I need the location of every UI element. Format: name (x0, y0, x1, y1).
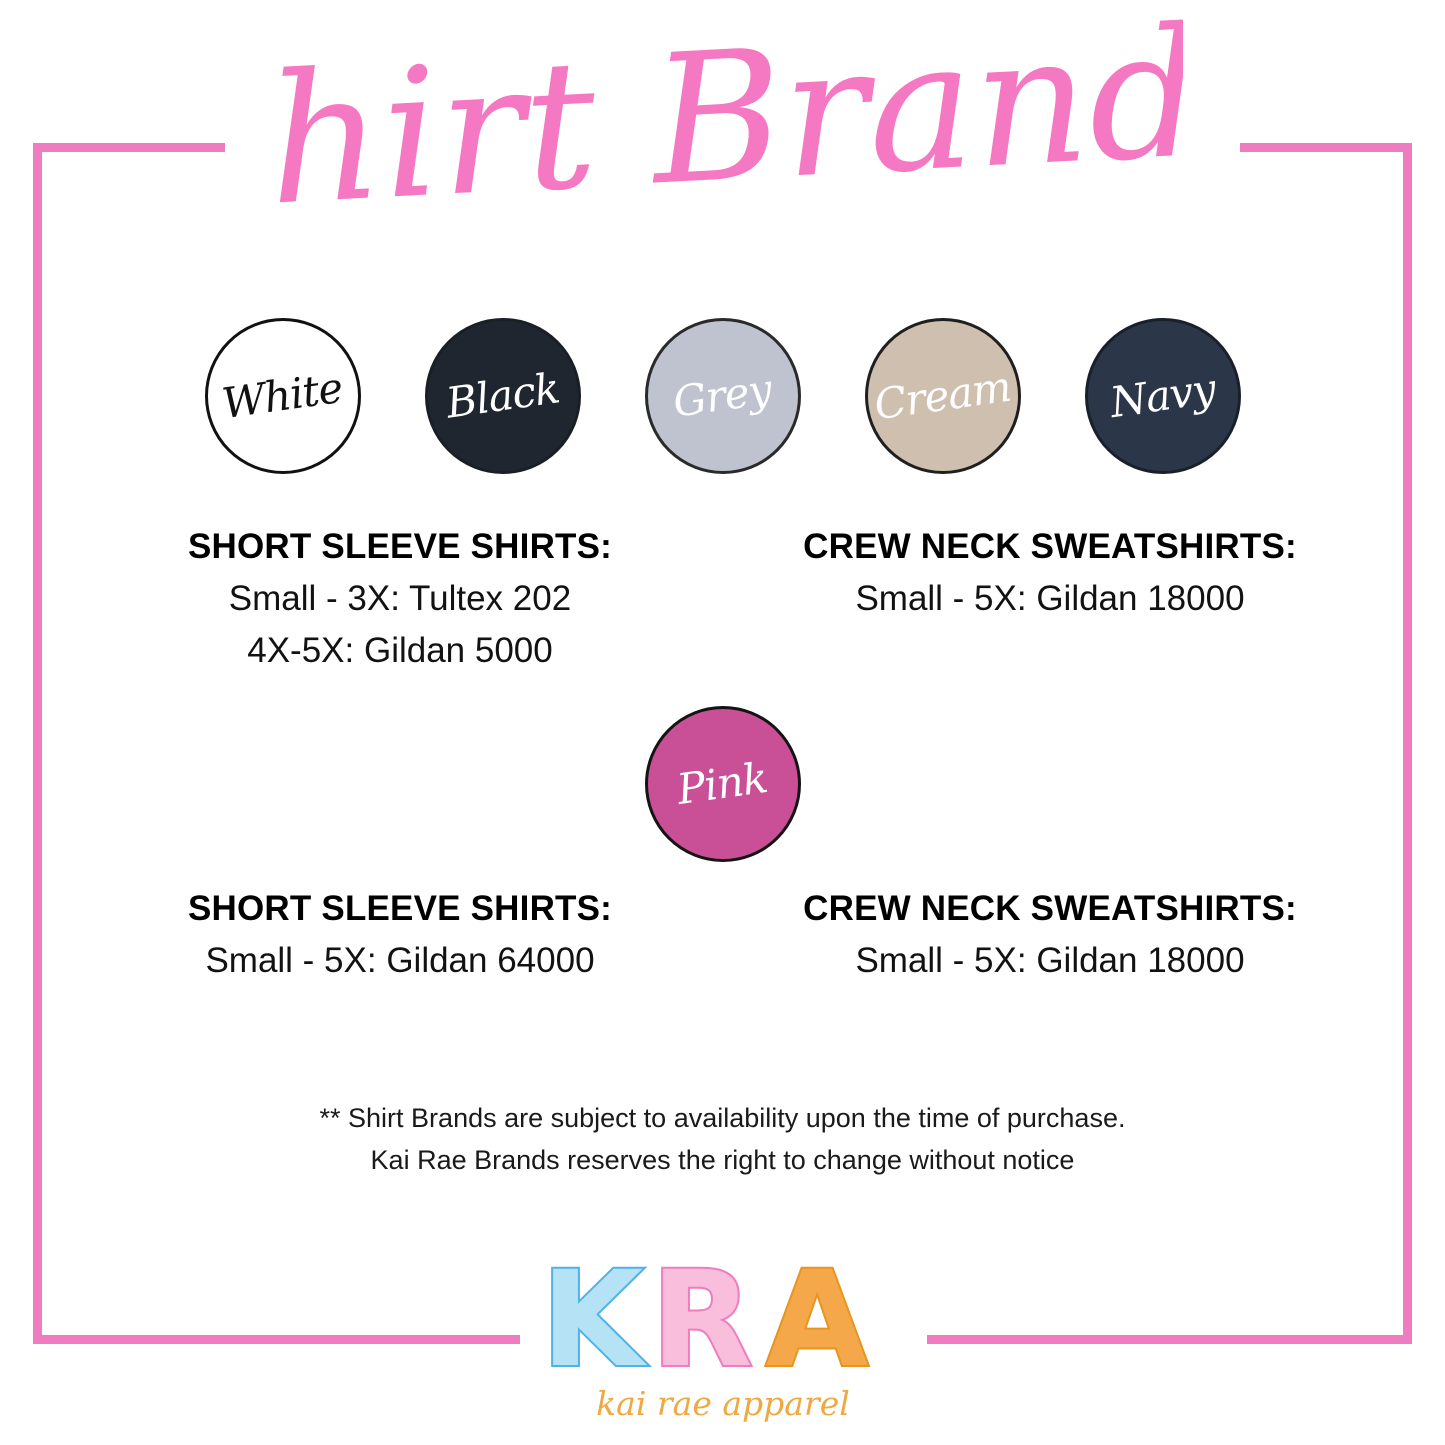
shirt-brands-graphic: Shirt Brands White Black Grey Cream Navy… (0, 0, 1445, 1445)
swatch-cream-label: Cream (872, 366, 1013, 427)
swatch-navy: Navy (1085, 318, 1241, 474)
color-swatch-row-pink: Pink (0, 706, 1445, 862)
section-line: Small - 3X: Tultex 202 (90, 579, 710, 619)
section-line: Small - 5X: Gildan 18000 (740, 941, 1360, 981)
logo-letter-a: A (766, 1243, 868, 1397)
swatch-pink-label: Pink (675, 757, 770, 811)
swatch-black-label: Black (443, 367, 561, 424)
section-heading: SHORT SLEEVE SHIRTS: (90, 889, 710, 929)
frame-bottom-left-segment (33, 1335, 520, 1344)
logo-letter-k: K (541, 1243, 648, 1397)
disclaimer-line-1: ** Shirt Brands are subject to availabil… (0, 1098, 1445, 1140)
swatch-pink: Pink (645, 706, 801, 862)
color-swatch-row-neutral: White Black Grey Cream Navy (0, 318, 1445, 474)
brand-logo: K R A kai rae apparel (523, 1243, 923, 1438)
section-line: Small - 5X: Gildan 18000 (740, 579, 1360, 619)
frame-top-left-segment (33, 143, 225, 152)
section-neutral-short-sleeve: SHORT SLEEVE SHIRTS: Small - 3X: Tultex … (90, 527, 710, 671)
disclaimer-line-2: Kai Rae Brands reserves the right to cha… (0, 1140, 1445, 1182)
section-heading: CREW NECK SWEATSHIRTS: (740, 527, 1360, 567)
section-pink-crew-neck: CREW NECK SWEATSHIRTS: Small - 5X: Gilda… (740, 889, 1360, 981)
page-title-text: Shirt Brands (263, 4, 1183, 251)
page-title: Shirt Brands (0, 4, 1445, 254)
section-heading: SHORT SLEEVE SHIRTS: (90, 527, 710, 567)
swatch-black: Black (425, 318, 581, 474)
logo-tagline: kai rae apparel (596, 1384, 850, 1423)
swatch-white: White (205, 318, 361, 474)
frame-top-right-segment (1240, 143, 1412, 152)
logo-letter-r: R (651, 1243, 753, 1397)
section-heading: CREW NECK SWEATSHIRTS: (740, 889, 1360, 929)
swatch-white-label: White (220, 367, 345, 425)
section-neutral-crew-neck: CREW NECK SWEATSHIRTS: Small - 5X: Gilda… (740, 527, 1360, 619)
swatch-grey-label: Grey (671, 368, 774, 423)
swatch-navy-label: Navy (1107, 368, 1217, 424)
swatch-grey: Grey (645, 318, 801, 474)
section-line: Small - 5X: Gildan 64000 (90, 941, 710, 981)
disclaimer: ** Shirt Brands are subject to availabil… (0, 1098, 1445, 1182)
frame-bottom-right-segment (927, 1335, 1412, 1344)
section-pink-short-sleeve: SHORT SLEEVE SHIRTS: Small - 5X: Gildan … (90, 889, 710, 981)
section-line: 4X-5X: Gildan 5000 (90, 631, 710, 671)
swatch-cream: Cream (865, 318, 1021, 474)
